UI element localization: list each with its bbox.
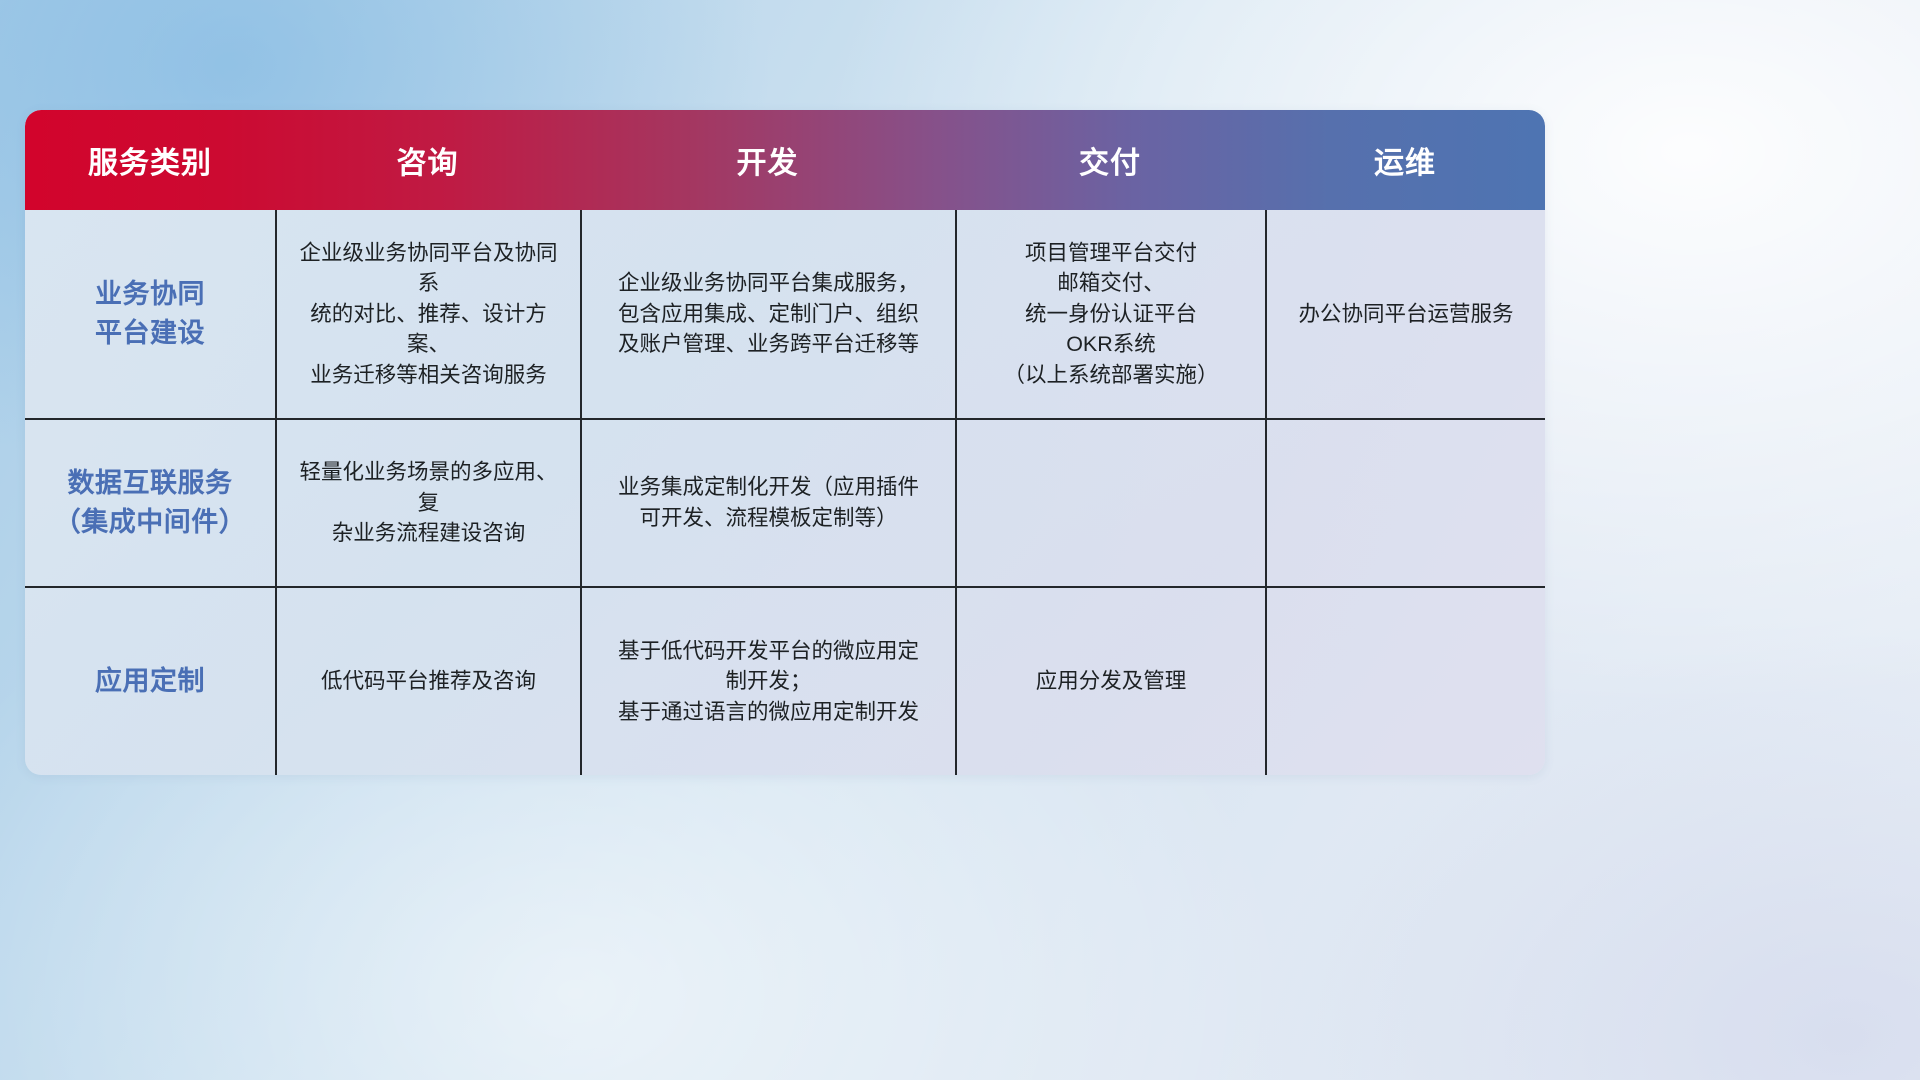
table-header-row: 服务类别 咨询 开发 交付 运维 (25, 110, 1545, 210)
table-row: 应用定制 低代码平台推荐及咨询 基于低代码开发平台的微应用定 制开发； 基于通过… (25, 586, 1545, 775)
cell-row0-delivery: 项目管理平台交付 邮箱交付、 统一身份认证平台 OKR系统 （以上系统部署实施） (955, 210, 1265, 418)
cell-row1-delivery (955, 420, 1265, 586)
column-header-development: 开发 (580, 138, 955, 182)
cell-row2-consulting: 低代码平台推荐及咨询 (275, 588, 580, 775)
cell-row2-delivery: 应用分发及管理 (955, 588, 1265, 775)
row-label-data-interconnect: 数据互联服务 （集成中间件） (25, 420, 275, 586)
cell-row2-operations (1265, 588, 1545, 775)
cell-row0-consulting: 企业级业务协同平台及协同系 统的对比、推荐、设计方案、 业务迁移等相关咨询服务 (275, 210, 580, 418)
cell-row0-development: 企业级业务协同平台集成服务， 包含应用集成、定制门户、组织 及账户管理、业务跨平… (580, 210, 955, 418)
cell-row1-consulting: 轻量化业务场景的多应用、复 杂业务流程建设咨询 (275, 420, 580, 586)
table-row: 数据互联服务 （集成中间件） 轻量化业务场景的多应用、复 杂业务流程建设咨询 业… (25, 418, 1545, 586)
cell-row1-development: 业务集成定制化开发（应用插件 可开发、流程模板定制等） (580, 420, 955, 586)
row-label-app-customization: 应用定制 (25, 588, 275, 775)
cell-row0-operations: 办公协同平台运营服务 (1265, 210, 1545, 418)
cell-row2-development: 基于低代码开发平台的微应用定 制开发； 基于通过语言的微应用定制开发 (580, 588, 955, 775)
column-header-operations: 运维 (1265, 138, 1545, 182)
table-row: 业务协同 平台建设 企业级业务协同平台及协同系 统的对比、推荐、设计方案、 业务… (25, 210, 1545, 418)
column-header-delivery: 交付 (955, 138, 1265, 182)
table-body: 业务协同 平台建设 企业级业务协同平台及协同系 统的对比、推荐、设计方案、 业务… (25, 210, 1545, 775)
column-header-consulting: 咨询 (275, 138, 580, 182)
column-header-category: 服务类别 (25, 138, 275, 182)
service-matrix-card: 服务类别 咨询 开发 交付 运维 业务协同 平台建设 企业级业务协同平台及协同系… (25, 110, 1545, 775)
cell-row1-operations (1265, 420, 1545, 586)
row-label-business-collaboration: 业务协同 平台建设 (25, 210, 275, 418)
